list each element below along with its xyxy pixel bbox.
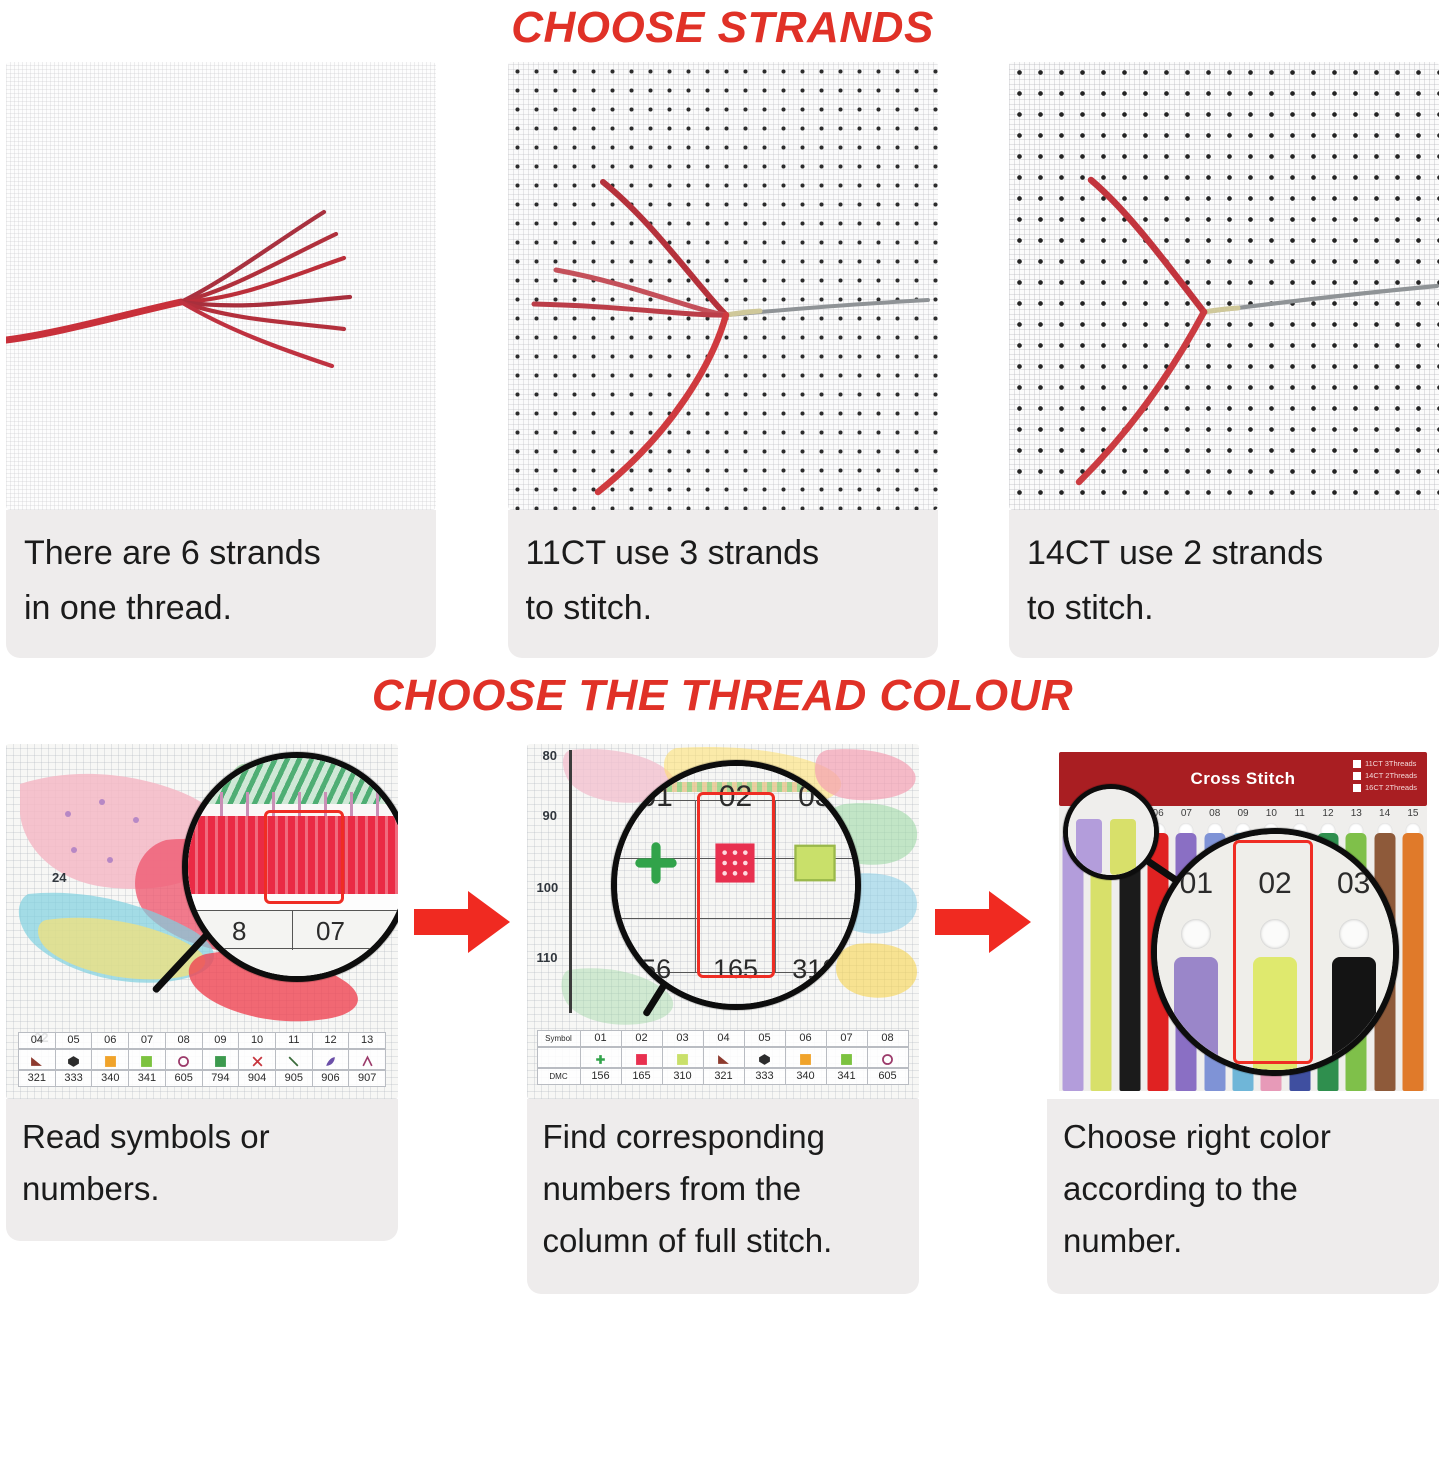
caret-icon	[361, 1054, 374, 1067]
thread-card-option: 11CT 3Threads	[1353, 759, 1417, 768]
floss-bundle	[1332, 957, 1376, 1070]
legend-code-cell: 333	[744, 1068, 785, 1085]
legend-index-cell: 04	[18, 1032, 55, 1049]
red-square-icon	[635, 1052, 648, 1065]
needle-and-three-strands-illustration	[508, 62, 938, 510]
caption-line-2: to stitch.	[526, 581, 920, 636]
option-label: 16CT 2Threads	[1365, 783, 1417, 792]
axis-label-90: 90	[543, 808, 557, 823]
photo-pattern-chart: 24 8 0	[6, 744, 398, 1099]
orange-square-icon	[799, 1052, 812, 1065]
plus-icon	[633, 840, 679, 882]
magnifier-lens-small	[1063, 784, 1159, 880]
caption-line-3: number.	[1063, 1215, 1423, 1267]
triangle-icon	[30, 1054, 43, 1067]
thread-card-option: 16CT 2Threads	[1353, 783, 1417, 792]
leaf-icon	[324, 1054, 337, 1067]
legend-index-cell: 05	[744, 1030, 785, 1047]
legend-index-cell: 07	[128, 1032, 165, 1049]
photo-six-strands	[6, 62, 436, 510]
caption-11ct: 11CT use 3 strands to stitch.	[508, 510, 938, 658]
legend-index-cell: 06	[91, 1032, 128, 1049]
slot-number: 14	[1370, 808, 1398, 819]
slot-number: 13	[1342, 808, 1370, 819]
legend-code-cell: 310	[662, 1068, 703, 1085]
slot-hole	[1181, 919, 1211, 949]
lens-column-03: 03 310	[775, 766, 854, 1004]
green-square-icon	[140, 1054, 153, 1067]
lens-column-code: 310	[775, 954, 854, 985]
lens-column-code: 56	[617, 954, 696, 985]
lens-highlight-box	[697, 792, 775, 978]
magnifier-lens-codes: 01 56 02	[611, 760, 861, 1010]
thread-colour-panel-row: 24 8 0	[0, 744, 1445, 1293]
lens-thread-column-01: 01	[1157, 834, 1236, 1070]
legend-code-cell: 341	[826, 1068, 867, 1085]
legend-code-cell: 321	[18, 1070, 55, 1087]
magnifier-content: 01 02 03	[1157, 834, 1393, 1070]
legend-code-cell: 340	[785, 1068, 826, 1085]
triangle-icon	[717, 1052, 730, 1065]
legend-index-cell: 02	[621, 1030, 662, 1047]
legend-code-cell: 904	[238, 1070, 275, 1087]
symbol-cell-yellow-green-square	[662, 1047, 703, 1068]
caption-line-2: numbers.	[22, 1163, 382, 1215]
chart-vertical-axis	[569, 750, 572, 1013]
legend-strip-panel5: Symbol 01 02 03 04 05 06 07 08	[537, 1030, 909, 1085]
legend-side-label-dmc: DMC	[537, 1068, 580, 1085]
plus-icon	[594, 1052, 607, 1065]
yellow-green-square-icon	[792, 840, 838, 882]
legend-index-cell: 03	[662, 1030, 703, 1047]
cross-x-icon	[251, 1054, 264, 1067]
legend-header-row: 04 05 06 07 08 09 10 11 12 13	[18, 1032, 386, 1049]
axis-label-80: 80	[543, 748, 557, 763]
yellow-green-square-icon	[676, 1052, 689, 1065]
panel-six-strands: There are 6 strands in one thread.	[6, 62, 436, 658]
caption-choose-colour: Choose right color according to the numb…	[1047, 1099, 1439, 1293]
caption-line-1: There are 6 strands	[24, 526, 418, 581]
symbol-cell-orange-square	[91, 1049, 128, 1070]
caption-line-1: 14CT use 2 strands	[1027, 526, 1421, 581]
section-heading-choose-thread-colour: CHOOSE THE THREAD COLOUR	[0, 658, 1445, 740]
legend-index-cell: 12	[312, 1032, 349, 1049]
open-circle-icon	[177, 1054, 190, 1067]
thread-card-title: Cross Stitch	[1191, 769, 1296, 789]
caption-line-1: 11CT use 3 strands	[526, 526, 920, 581]
photo-thread-card: Cross Stitch 11CT 3Threads 14CT 2Threads…	[1047, 744, 1439, 1099]
symbol-cell-green-square	[128, 1049, 165, 1070]
symbol-cell-caret	[348, 1049, 386, 1070]
slot-number: 15	[1399, 808, 1427, 819]
slot-number: 12	[1314, 808, 1342, 819]
photo-pattern-legend: 80 90 100 110 01	[527, 744, 919, 1099]
symbol-cell-red-square	[621, 1047, 662, 1068]
lens-column-number: 03	[1314, 867, 1393, 901]
magnifier-lens-threads: 01 02 03	[1151, 828, 1399, 1076]
slot-number: 07	[1172, 808, 1200, 819]
symbol-cell-green-square	[826, 1047, 867, 1068]
slot-number: 08	[1201, 808, 1229, 819]
legend-index-cell: 05	[55, 1032, 92, 1049]
magnifier-content: 01 56 02	[617, 766, 855, 1004]
caption-read-symbols: Read symbols or numbers.	[6, 1099, 398, 1241]
legend-code-cell: 165	[621, 1068, 662, 1085]
caption-line-1: Choose right color	[1063, 1111, 1423, 1163]
arrow-right-icon	[935, 887, 1031, 957]
green-square-icon	[840, 1052, 853, 1065]
caption-line-1: Read symbols or	[22, 1111, 382, 1163]
section-heading-choose-strands: CHOOSE STRANDS	[0, 0, 1445, 62]
thread-card-options: 11CT 3Threads 14CT 2Threads 16CT 2Thread…	[1353, 759, 1417, 792]
legend-index-cell: 11	[275, 1032, 312, 1049]
symbol-cell-open-circle	[165, 1049, 202, 1070]
legend-index-cell: 06	[785, 1030, 826, 1047]
lens-highlight-box	[1233, 840, 1313, 1064]
hexagon-icon	[67, 1054, 80, 1067]
legend-index-cell: 08	[165, 1032, 202, 1049]
caption-14ct: 14CT use 2 strands to stitch.	[1009, 510, 1439, 658]
checkbox-icon[interactable]	[1353, 772, 1361, 780]
arrow-right-icon	[414, 887, 510, 957]
slot-number: 11	[1286, 808, 1314, 819]
caption-find-numbers: Find corresponding numbers from the colu…	[527, 1099, 919, 1293]
arrow-cell-1	[406, 744, 518, 1099]
lens-thread-column-03: 03	[1314, 834, 1393, 1070]
arrow-cell-2	[927, 744, 1039, 1099]
lens-label-left: 8	[232, 916, 246, 947]
symbol-cell-leaf	[312, 1049, 349, 1070]
slot-hole	[1339, 919, 1369, 949]
symbol-cell-triangle	[18, 1049, 55, 1070]
magnifier-content	[1068, 789, 1154, 875]
lens-highlight-box	[264, 810, 344, 904]
caption-six-strands: There are 6 strands in one thread.	[6, 510, 436, 658]
legend-code-row: DMC 156 165 310 321 333 340 341 605	[537, 1068, 909, 1085]
hexagon-icon	[758, 1052, 771, 1065]
photo-14ct-aida	[1009, 62, 1439, 510]
legend-code-cell: 605	[867, 1068, 909, 1085]
legend-index-cell: 04	[703, 1030, 744, 1047]
legend-index-cell: 08	[867, 1030, 909, 1047]
symbol-cell-open-circle	[867, 1047, 909, 1068]
magnifier-lens-symbols: 8 07	[182, 752, 398, 982]
legend-index-cell: 13	[348, 1032, 386, 1049]
lens-label-right: 07	[316, 916, 345, 947]
legend-code-cell: 156	[580, 1068, 621, 1085]
panel-find-numbers: 80 90 100 110 01	[527, 744, 919, 1293]
slot-number: 09	[1229, 808, 1257, 819]
thread-slot[interactable]: 15	[1399, 806, 1427, 1091]
panel-14ct: 14CT use 2 strands to stitch.	[1009, 62, 1439, 658]
symbol-cell-dark-hex	[55, 1049, 92, 1070]
needle-and-two-strands-illustration	[1009, 62, 1439, 510]
legend-strip-panel4: 04 05 06 07 08 09 10 11 12 13	[18, 1032, 386, 1087]
legend-index-cell: 07	[826, 1030, 867, 1047]
symbol-cell-plus	[580, 1047, 621, 1068]
thread-strands-illustration	[6, 62, 436, 510]
photo-11ct-aida	[508, 62, 938, 510]
checkbox-icon[interactable]	[1353, 760, 1361, 768]
panel-read-symbols: 24 8 0	[6, 744, 398, 1241]
legend-symbol-row	[18, 1049, 386, 1070]
legend-index-cell: 01	[580, 1030, 621, 1047]
legend-code-cell: 321	[703, 1068, 744, 1085]
option-label: 11CT 3Threads	[1365, 759, 1416, 768]
axis-label-110: 110	[537, 950, 558, 965]
caption-line-2: according to the	[1063, 1163, 1423, 1215]
lens-column-01: 01 56	[617, 766, 696, 1004]
open-circle-icon	[881, 1052, 894, 1065]
legend-symbol-row	[537, 1047, 909, 1068]
legend-code-cell: 341	[128, 1070, 165, 1087]
panel-choose-colour: Cross Stitch 11CT 3Threads 14CT 2Threads…	[1047, 744, 1439, 1293]
symbol-cell-cross	[238, 1049, 275, 1070]
symbol-cell-dark-hex	[744, 1047, 785, 1068]
lens-column-number: 03	[775, 780, 854, 814]
lens-column-number: 01	[617, 780, 696, 814]
orange-square-icon	[104, 1054, 117, 1067]
strands-panel-row: There are 6 strands in one thread. 11CT …	[0, 62, 1445, 658]
slot-number: 10	[1257, 808, 1285, 819]
legend-code-row: 321 333 340 341 605 794 904 905 906 907	[18, 1070, 386, 1087]
lens-column-number: 01	[1157, 867, 1236, 901]
magnifier-content: 8 07	[188, 758, 398, 976]
floss-bundle	[1174, 957, 1218, 1070]
checkbox-icon[interactable]	[1353, 784, 1361, 792]
legend-code-cell: 905	[275, 1070, 312, 1087]
legend-index-cell: 09	[202, 1032, 239, 1049]
legend-code-cell: 605	[165, 1070, 202, 1087]
thread-card-option: 14CT 2Threads	[1353, 771, 1417, 780]
symbol-cell-orange-square	[785, 1047, 826, 1068]
symbol-cell-backslash	[275, 1049, 312, 1070]
legend-side-spacer	[537, 1047, 580, 1068]
legend-code-cell: 906	[312, 1070, 349, 1087]
floss-bundle	[1402, 833, 1423, 1091]
panel-11ct: 11CT use 3 strands to stitch.	[508, 62, 938, 658]
legend-code-cell: 333	[55, 1070, 92, 1087]
caption-line-2: in one thread.	[24, 581, 418, 636]
legend-header-row: Symbol 01 02 03 04 05 06 07 08	[537, 1030, 909, 1047]
backslash-icon	[287, 1054, 300, 1067]
axis-label-100: 100	[537, 880, 559, 895]
legend-code-cell: 340	[91, 1070, 128, 1087]
legend-code-cell: 794	[202, 1070, 239, 1087]
legend-code-cell: 907	[348, 1070, 386, 1087]
option-label: 14CT 2Threads	[1365, 771, 1417, 780]
symbol-cell-dark-green-square	[202, 1049, 239, 1070]
caption-line-3: column of full stitch.	[543, 1215, 903, 1267]
chart-row-label: 24	[52, 870, 66, 885]
legend-index-cell: 10	[238, 1032, 275, 1049]
dark-green-square-icon	[214, 1054, 227, 1067]
legend-side-label-symbol: Symbol	[537, 1030, 580, 1047]
caption-line-2: numbers from the	[543, 1163, 903, 1215]
caption-line-2: to stitch.	[1027, 581, 1421, 636]
symbol-cell-triangle	[703, 1047, 744, 1068]
caption-line-1: Find corresponding	[543, 1111, 903, 1163]
